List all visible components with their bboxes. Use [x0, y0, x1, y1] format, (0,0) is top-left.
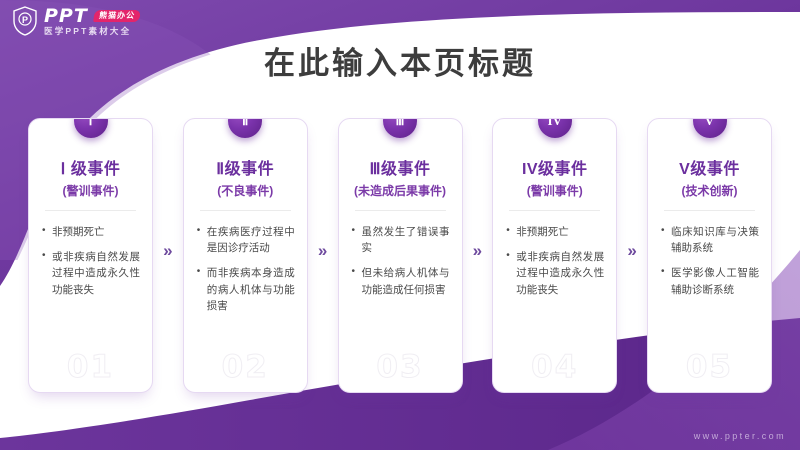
card-index-5: 05	[648, 349, 771, 385]
card-level-4[interactable]: IV IV级事件 (警训事件) 非预期死亡 或非疾病自然发展过程中造成永久性功能…	[492, 118, 617, 393]
card-divider-3	[355, 210, 446, 211]
level-badge-1: Ⅰ	[74, 118, 108, 138]
level-badge-5: V	[693, 118, 727, 138]
card-level-3[interactable]: Ⅲ Ⅲ级事件 (未造成后果事件) 虽然发生了错误事实 但未给病人机体与功能造成任…	[338, 118, 463, 393]
card-bullets-3: 虽然发生了错误事实 但未给病人机体与功能造成任何损害	[351, 224, 450, 298]
svg-text:P: P	[22, 15, 28, 25]
level-badge-4: IV	[538, 118, 572, 138]
page-title: 在此输入本页标题	[0, 38, 800, 83]
bullet-item: 或非疾病自然发展过程中造成永久性功能丧失	[41, 249, 140, 298]
card-bullets-4: 非预期死亡 或非疾病自然发展过程中造成永久性功能丧失	[505, 224, 604, 298]
card-divider-1	[45, 210, 136, 211]
card-index-2: 02	[184, 349, 307, 385]
level-badge-3: Ⅲ	[383, 118, 417, 138]
card-divider-4	[509, 210, 600, 211]
card-level-5[interactable]: V V级事件 (技术创新) 临床知识库与决策辅助系统 医学影像人工智能辅助诊断系…	[647, 118, 772, 393]
card-title-5: V级事件	[658, 161, 761, 179]
bullet-item: 医学影像人工智能辅助诊断系统	[660, 265, 759, 298]
site-watermark: www.ppter.com	[694, 431, 786, 441]
level-badge-2: Ⅱ	[228, 118, 262, 138]
card-index-4: 04	[493, 349, 616, 385]
bullet-item: 在疾病医疗过程中是因诊疗活动	[196, 224, 295, 257]
card-title-2: Ⅱ级事件	[194, 161, 297, 179]
brand-tagline: 医学PPT素材大全	[44, 27, 140, 36]
bullet-item: 或非疾病自然发展过程中造成永久性功能丧失	[505, 249, 604, 298]
card-bullets-1: 非预期死亡 或非疾病自然发展过程中造成永久性功能丧失	[41, 224, 140, 298]
card-subtitle-1: (警训事件)	[39, 184, 142, 198]
card-title-4: IV级事件	[503, 161, 606, 179]
separator-1: »	[153, 118, 183, 393]
bullet-item: 而非疾病本身造成的病人机体与功能损害	[196, 265, 295, 314]
bullet-item: 虽然发生了错误事实	[351, 224, 450, 257]
card-level-1[interactable]: Ⅰ Ⅰ 级事件 (警训事件) 非预期死亡 或非疾病自然发展过程中造成永久性功能丧…	[28, 118, 153, 393]
shield-icon: P	[12, 6, 38, 36]
bullet-item: 临床知识库与决策辅助系统	[660, 224, 759, 257]
card-subtitle-4: (警训事件)	[503, 184, 606, 198]
card-subtitle-5: (技术创新)	[658, 184, 761, 198]
separator-4: »	[617, 118, 647, 393]
bullet-item: 非预期死亡	[505, 224, 604, 240]
card-title-1: Ⅰ 级事件	[39, 161, 142, 179]
card-bullets-5: 临床知识库与决策辅助系统 医学影像人工智能辅助诊断系统	[660, 224, 759, 298]
card-subtitle-3: (未造成后果事件)	[349, 184, 452, 198]
card-title-3: Ⅲ级事件	[349, 161, 452, 179]
card-index-3: 03	[339, 349, 462, 385]
bullet-item: 非预期死亡	[41, 224, 140, 240]
separator-2: »	[308, 118, 338, 393]
card-index-1: 01	[29, 349, 152, 385]
cards-row: Ⅰ Ⅰ 级事件 (警训事件) 非预期死亡 或非疾病自然发展过程中造成永久性功能丧…	[28, 118, 772, 393]
brand-badge: 熊猫办公	[93, 10, 141, 22]
brand-logo[interactable]: P PPT 熊猫办公 医学PPT素材大全	[12, 6, 140, 36]
bullet-item: 但未给病人机体与功能造成任何损害	[351, 265, 450, 298]
separator-3: »	[463, 118, 493, 393]
card-bullets-2: 在疾病医疗过程中是因诊疗活动 而非疾病本身造成的病人机体与功能损害	[196, 224, 295, 314]
card-divider-2	[200, 210, 291, 211]
card-divider-5	[664, 210, 755, 211]
brand-name: PPT	[44, 7, 88, 26]
card-subtitle-2: (不良事件)	[194, 184, 297, 198]
card-level-2[interactable]: Ⅱ Ⅱ级事件 (不良事件) 在疾病医疗过程中是因诊疗活动 而非疾病本身造成的病人…	[183, 118, 308, 393]
